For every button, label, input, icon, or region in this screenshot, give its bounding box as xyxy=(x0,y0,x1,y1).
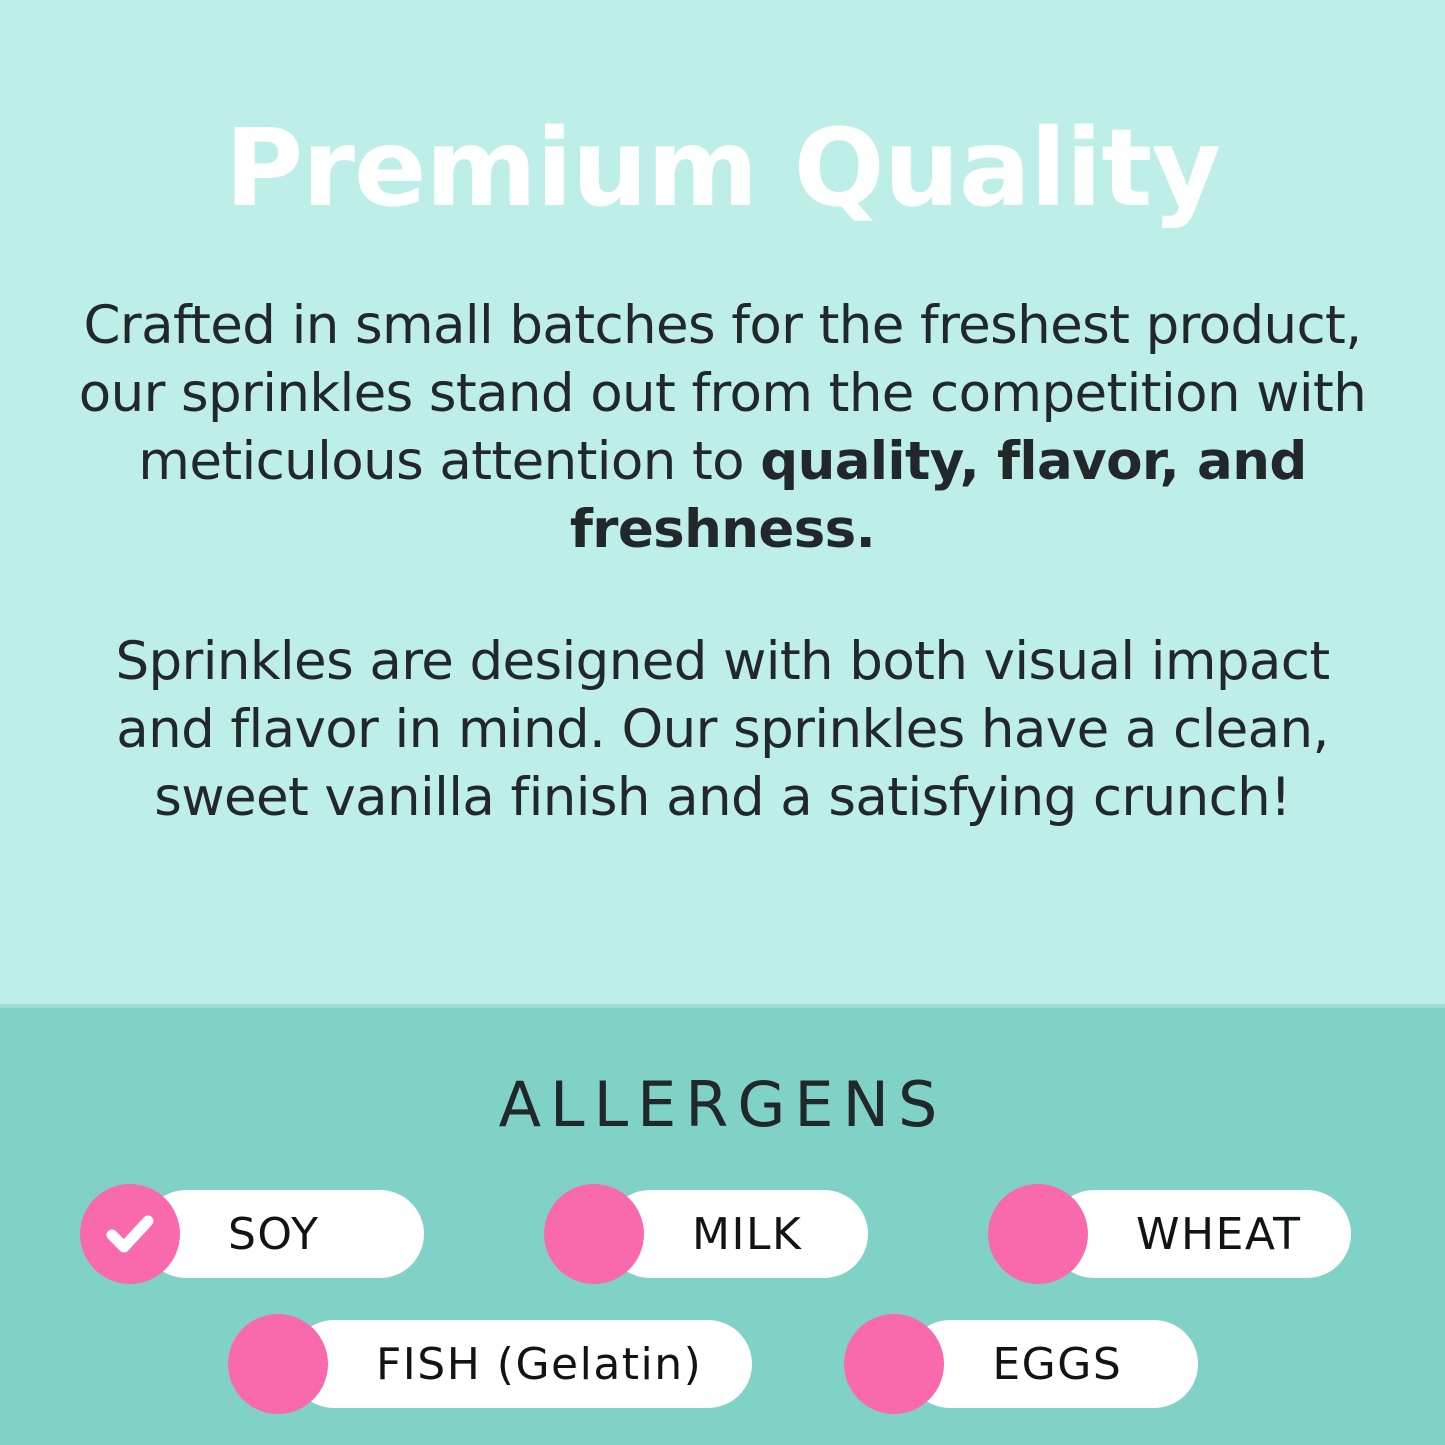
description-paragraph-2: Sprinkles are designed with both visual … xyxy=(72,628,1373,832)
allergens-panel: ALLERGENS SOY MILK xyxy=(0,1008,1445,1445)
allergen-pill-body: FISH (Gelatin) xyxy=(290,1320,752,1408)
allergen-row-2: FISH (Gelatin) EGGS xyxy=(0,1314,1445,1414)
page-title: Premium Quality xyxy=(0,112,1445,228)
dot-icon xyxy=(844,1314,944,1414)
allergen-label: EGGS xyxy=(992,1339,1122,1390)
allergen-pill-body: EGGS xyxy=(906,1320,1198,1408)
premium-quality-panel: Premium Quality Crafted in small batches… xyxy=(0,0,1445,1007)
allergen-pill-fish[interactable]: FISH (Gelatin) xyxy=(228,1314,752,1414)
description-paragraph-1: Crafted in small batches for the freshes… xyxy=(72,292,1373,564)
allergen-pill-wheat[interactable]: WHEAT xyxy=(988,1184,1351,1284)
allergen-pill-body: MILK xyxy=(606,1190,868,1278)
infographic-page: Premium Quality Crafted in small batches… xyxy=(0,0,1445,1445)
dot-icon xyxy=(988,1184,1088,1284)
allergen-pill-body: WHEAT xyxy=(1050,1190,1351,1278)
check-icon xyxy=(80,1184,180,1284)
allergens-heading: ALLERGENS xyxy=(0,1068,1445,1141)
allergen-label: SOY xyxy=(228,1209,320,1260)
allergen-label: MILK xyxy=(692,1209,802,1260)
allergen-pill-soy[interactable]: SOY xyxy=(80,1184,424,1284)
allergen-pill-body: SOY xyxy=(142,1190,424,1278)
allergen-pill-milk[interactable]: MILK xyxy=(544,1184,868,1284)
allergen-row-1: SOY MILK WHEAT xyxy=(0,1184,1445,1284)
dot-icon xyxy=(228,1314,328,1414)
allergen-label: FISH (Gelatin) xyxy=(376,1339,702,1390)
allergen-pill-eggs[interactable]: EGGS xyxy=(844,1314,1198,1414)
dot-icon xyxy=(544,1184,644,1284)
allergen-label: WHEAT xyxy=(1136,1209,1301,1260)
